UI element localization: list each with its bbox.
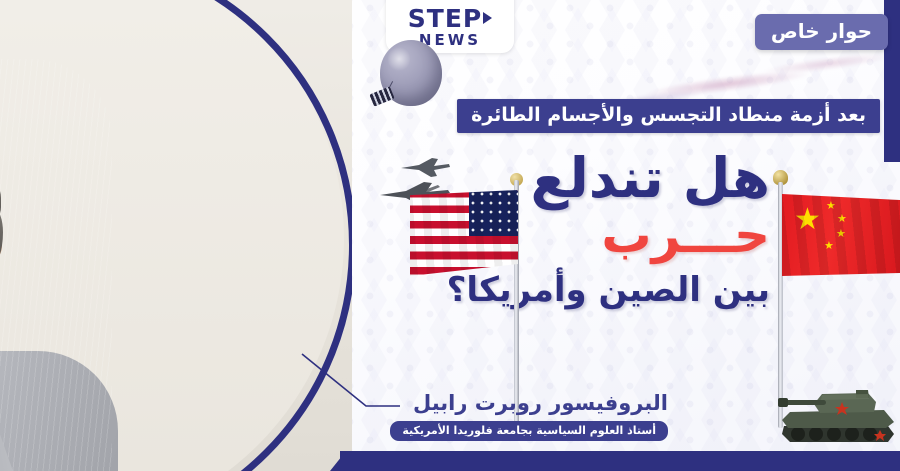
bottom-bar (340, 451, 900, 471)
status-badge: حوار خاص (755, 14, 888, 50)
portrait-edge-fade (316, 0, 352, 471)
fighter-jet-icon (398, 152, 452, 180)
portrait-ring-border (0, 0, 352, 471)
china-flag-wave-shading (782, 194, 900, 276)
military-tank-graphic (776, 376, 900, 448)
guest-name: البروفيسور روبرت رابيل (413, 391, 668, 415)
china-flag-cloth: ★ ★ ★ ★ ★ (782, 194, 900, 276)
spy-balloon-icon (380, 40, 442, 106)
news-graphic-card: STEP NEWS حوار خاص بعد أزمة منطاد التجسس… (0, 0, 900, 471)
portrait-panel (0, 0, 352, 471)
play-triangle-icon (483, 12, 492, 24)
logo-step-text: STEP (408, 6, 482, 31)
logo-step-wordmark: STEP (408, 6, 492, 31)
us-flag-cloth (410, 190, 518, 276)
balloon-highlight (388, 46, 410, 72)
us-flag-wave-shading (410, 190, 518, 276)
kicker-banner: بعد أزمة منطاد التجسس والأجسام الطائرة (457, 99, 880, 133)
guest-title-pill: أستاذ العلوم السياسية بجامعة فلوريدا الأ… (390, 421, 668, 441)
